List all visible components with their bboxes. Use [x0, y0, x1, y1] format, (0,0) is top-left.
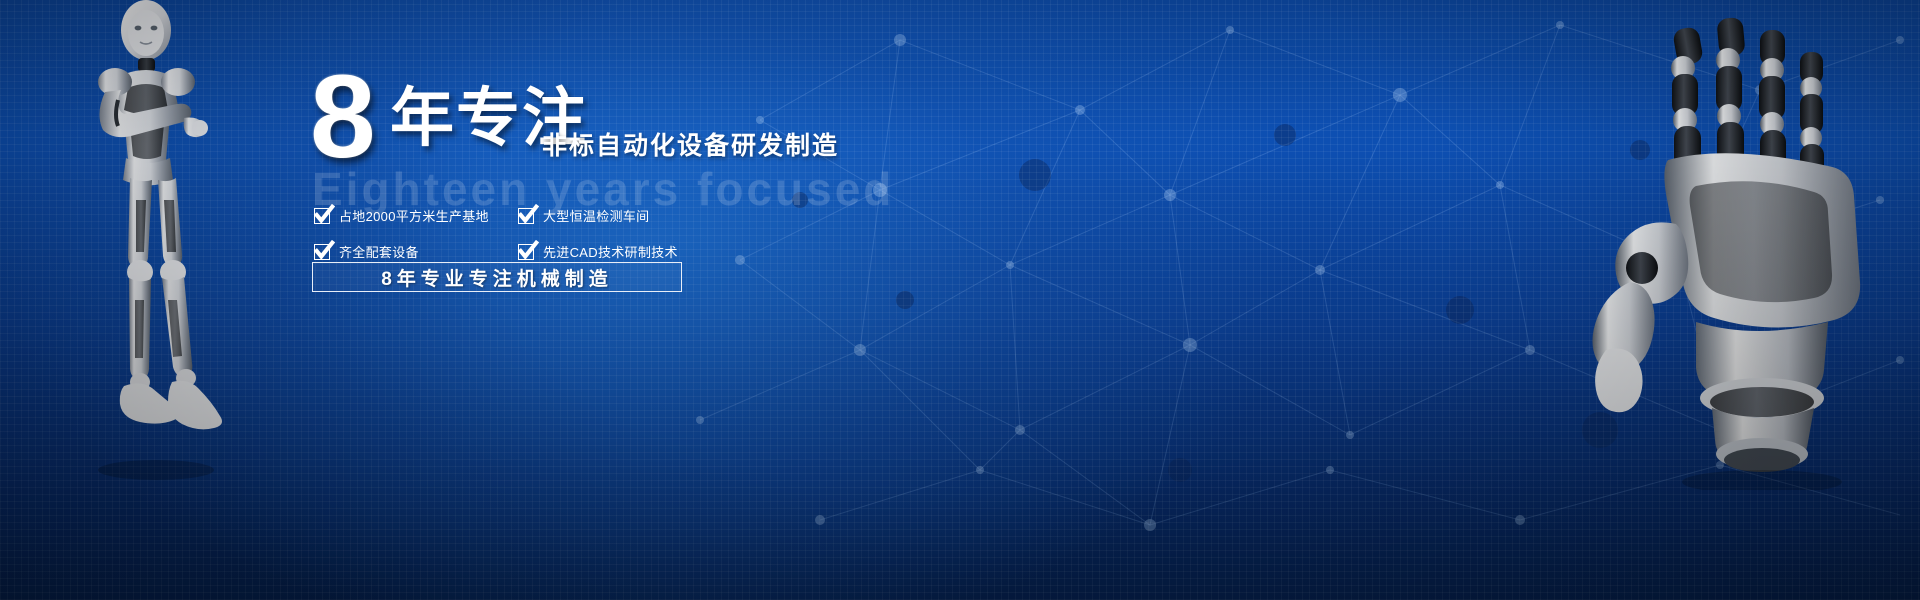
feature-item: 占地2000平方米生产基地 [314, 206, 514, 225]
feature-label: 占地2000平方米生产基地 [339, 206, 489, 225]
banner-content: 8 年专注 非标自动化设备研发制造 Eighteen years focused… [310, 76, 1070, 158]
feature-label: 齐全配套设备 [339, 242, 419, 261]
feature-label: 先进CAD技术研制技术 [543, 242, 678, 261]
feature-item: 先进CAD技术研制技术 [518, 242, 718, 261]
check-icon [314, 244, 330, 260]
check-icon [518, 244, 534, 260]
feature-item: 齐全配套设备 [314, 242, 514, 261]
check-icon [518, 208, 534, 224]
feature-list: 占地2000平方米生产基地 大型恒温检测车间 齐全配套设备 先进CAD技术研制技… [314, 206, 734, 261]
humanoid-robot-figure [58, 0, 288, 490]
feature-label: 大型恒温检测车间 [543, 206, 649, 225]
feature-item: 大型恒温检测车间 [518, 206, 718, 225]
headline-number: 8 [310, 58, 374, 176]
headline-subtitle: 非标自动化设备研发制造 [542, 126, 839, 162]
headline: 8 年专注 非标自动化设备研发制造 [310, 76, 1070, 158]
check-icon [314, 208, 330, 224]
hero-banner: 8 年专注 非标自动化设备研发制造 Eighteen years focused… [0, 0, 1920, 600]
robotic-hand [1500, 10, 1900, 490]
cta-label: 8年专业专注机械制造 [381, 264, 613, 291]
cta-banner[interactable]: 8年专业专注机械制造 [312, 262, 682, 292]
